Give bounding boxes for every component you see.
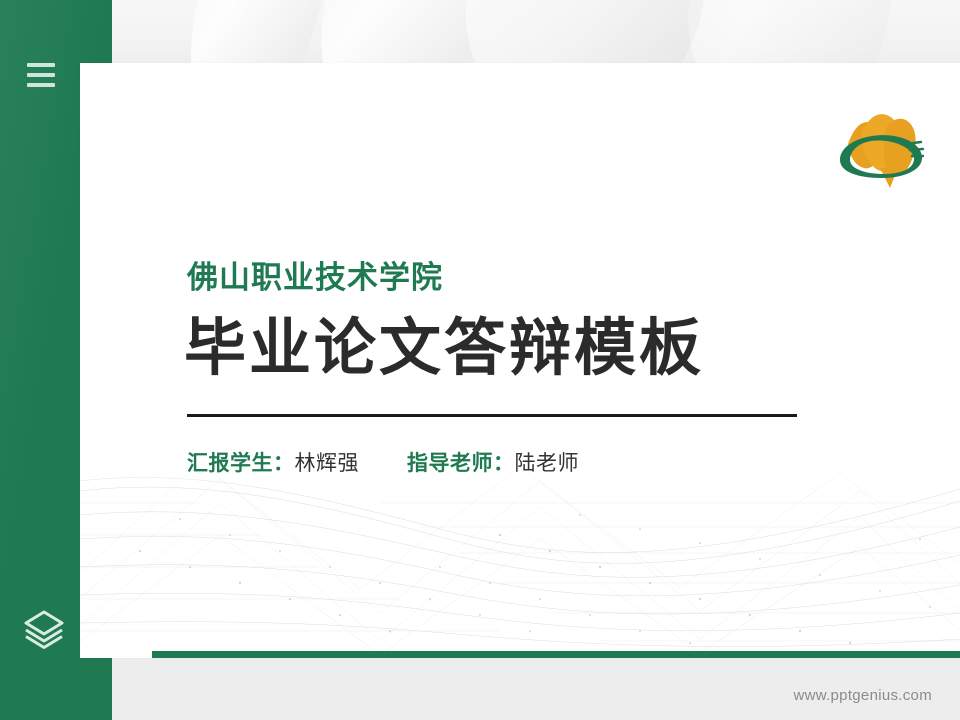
footer-url: www.pptgenius.com <box>794 687 933 704</box>
meta-item-advisor: 指导老师： 陆老师 <box>407 447 579 477</box>
hamburger-bar <box>27 83 55 87</box>
student-name: 林辉强 <box>295 447 360 477</box>
card-bottom-accent-bar <box>152 651 960 658</box>
ribbon-shape <box>669 0 911 66</box>
layers-icon[interactable] <box>21 604 67 650</box>
page-title: 毕业论文答辩模板 <box>184 316 704 381</box>
school-logo <box>828 108 928 196</box>
presenter-meta-row: 汇报学生： 林辉强 指导老师： 陆老师 <box>187 447 579 477</box>
advisor-label: 指导老师： <box>407 447 515 477</box>
student-label: 汇报学生： <box>187 447 295 477</box>
hamburger-icon[interactable] <box>27 63 55 87</box>
top-decoration-band <box>0 0 960 66</box>
hamburger-bar <box>27 63 55 67</box>
hamburger-bar <box>27 73 55 77</box>
title-divider <box>187 414 797 417</box>
slide-card: 佛山职业技术学院 毕业论文答辩模板 汇报学生： 林辉强 指导老师： 陆老师 <box>80 63 960 658</box>
meta-item-student: 汇报学生： 林辉强 <box>187 447 359 477</box>
school-name: 佛山职业技术学院 <box>187 252 443 297</box>
slide-canvas: 佛山职业技术学院 毕业论文答辩模板 汇报学生： 林辉强 指导老师： 陆老师 ww… <box>0 0 960 720</box>
advisor-name: 陆老师 <box>515 447 580 477</box>
